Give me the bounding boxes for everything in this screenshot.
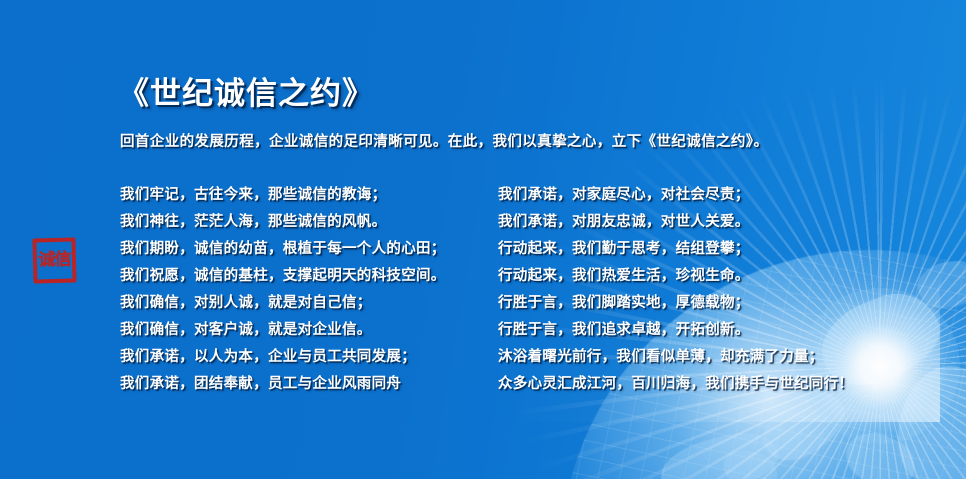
pledge-line: 行动起来，我们勤于思考，结组登攀； (498, 236, 853, 263)
pledge-line: 我们牢记，古往今来，那些诚信的教诲； (120, 182, 446, 209)
pledge-line: 行胜于言，我们追求卓越，开拓创新。 (498, 317, 853, 344)
pledge-line: 众多心灵汇成江河，百川归海，我们携手与世纪同行！ (498, 371, 853, 398)
pledge-line: 行胜于言，我们脚踏实地，厚德载物； (498, 290, 853, 317)
pledge-line: 我们期盼，诚信的幼苗，根植于每一个人的心田； (120, 236, 446, 263)
pledge-column-right: 我们承诺，对家庭尽心，对社会尽责； 我们承诺，对朋友忠诚，对世人关爱。 行动起来… (498, 182, 853, 398)
poster-title: 《世纪诚信之约》 (118, 68, 374, 113)
pledge-line: 沐浴着曙光前行，我们看似单薄，却充满了力量； (498, 344, 853, 371)
poster-canvas: 诚信 《世纪诚信之约》 回首企业的发展历程，企业诚信的足印清晰可见。在此，我们以… (0, 0, 966, 479)
pledge-line: 我们承诺，对家庭尽心，对社会尽责； (498, 182, 853, 209)
pledge-line: 我们承诺，团结奉献，员工与企业风雨同舟 (120, 371, 446, 398)
pledge-line: 行动起来，我们热爱生活，珍视生命。 (498, 263, 853, 290)
poster-subtitle: 回首企业的发展历程，企业诚信的足印清晰可见。在此，我们以真挚之心，立下《世纪诚信… (120, 130, 768, 151)
pledge-line: 我们承诺，以人为本，企业与员工共同发展； (120, 344, 446, 371)
pledge-line: 我们承诺，对朋友忠诚，对世人关爱。 (498, 209, 853, 236)
integrity-seal-icon: 诚信 (32, 237, 76, 283)
pledge-line: 我们祝愿，诚信的基柱，支撑起明天的科技空间。 (120, 263, 446, 290)
pledge-line: 我们确信，对客户诚，就是对企业信。 (120, 317, 446, 344)
pledge-line: 我们神往，茫茫人海，那些诚信的风帆。 (120, 209, 446, 236)
pledge-column-left: 我们牢记，古往今来，那些诚信的教诲； 我们神往，茫茫人海，那些诚信的风帆。 我们… (120, 182, 446, 398)
poster-content: 诚信 《世纪诚信之约》 回首企业的发展历程，企业诚信的足印清晰可见。在此，我们以… (0, 0, 966, 479)
pledge-line: 我们确信，对别人诚，就是对自己信； (120, 290, 446, 317)
